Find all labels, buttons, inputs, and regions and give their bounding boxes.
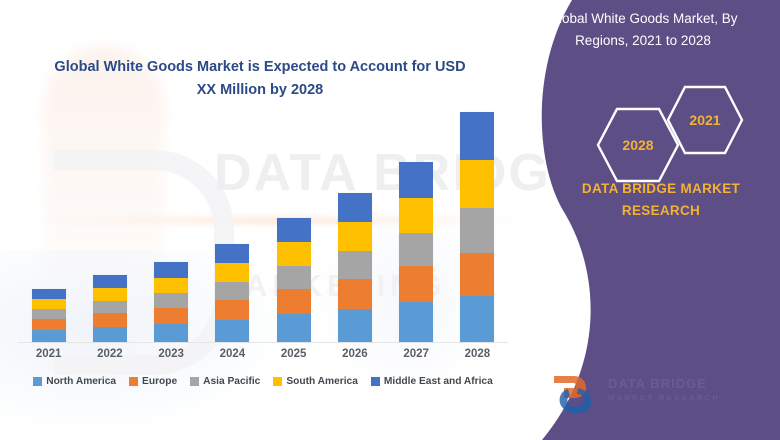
bar-slot <box>79 112 140 342</box>
stacked-bar-2021[interactable] <box>32 289 66 342</box>
bar-segment <box>32 330 66 342</box>
bar-segment <box>338 251 372 279</box>
brand-line-1: DATA BRIDGE MARKET <box>556 178 766 200</box>
bar-segment <box>215 282 249 300</box>
brand-line-2: RESEARCH <box>556 200 766 222</box>
stacked-bar-2025[interactable] <box>277 218 311 342</box>
bar-segment <box>215 263 249 282</box>
stacked-bar-2028[interactable] <box>460 112 494 342</box>
bar-segment <box>399 266 433 302</box>
x-axis-label-2021: 2021 <box>18 348 79 360</box>
bar-segment <box>338 309 372 342</box>
footer-logo: DATA BRIDGE MARKET RESEARCH <box>548 372 738 420</box>
bar-segment <box>460 296 494 342</box>
bar-slot <box>141 112 202 342</box>
hexagon-2021-label: 2021 <box>689 112 720 128</box>
bar-segment <box>460 208 494 253</box>
bar-segment <box>154 308 188 324</box>
bar-segment <box>277 266 311 289</box>
legend-label: Asia Pacific <box>203 376 260 387</box>
bar-slot <box>386 112 447 342</box>
bar-segment <box>460 112 494 160</box>
bar-segment <box>154 278 188 293</box>
bar-segment <box>399 162 433 198</box>
bar-segment <box>93 275 127 288</box>
bar-segment <box>32 299 66 309</box>
x-axis-label-2025: 2025 <box>263 348 324 360</box>
bar-segment <box>399 198 433 233</box>
legend-label: Europe <box>142 376 177 387</box>
logo-name: DATA BRIDGE <box>608 376 707 391</box>
infographic-canvas: DATA BRIDGE MARKETING Global White Goods… <box>0 0 780 440</box>
stacked-bar-2024[interactable] <box>215 244 249 342</box>
bar-segment <box>32 289 66 299</box>
bar-segment <box>277 218 311 242</box>
bar-slot <box>263 112 324 342</box>
bar-slot <box>447 112 508 342</box>
bar-segment <box>338 279 372 309</box>
bar-segment <box>277 289 311 314</box>
hexagon-badge-2028: 2028 <box>595 106 681 184</box>
x-axis-label-2027: 2027 <box>386 348 447 360</box>
bar-segment <box>338 193 372 222</box>
bar-slot <box>202 112 263 342</box>
x-axis-labels: 20212022202320242025202620272028 <box>18 348 508 360</box>
x-axis-label-2026: 2026 <box>324 348 385 360</box>
legend-label: Middle East and Africa <box>384 376 493 387</box>
bar-segment <box>460 160 494 208</box>
bar-segment <box>154 262 188 278</box>
chart-legend: North AmericaEuropeAsia PacificSouth Ame… <box>18 376 508 387</box>
stacked-bar-2022[interactable] <box>93 275 127 342</box>
bar-segment <box>154 324 188 342</box>
chart-baseline <box>18 342 508 343</box>
bar-segment <box>399 233 433 266</box>
bar-segment <box>399 302 433 342</box>
legend-item[interactable]: Asia Pacific <box>190 376 260 387</box>
bar-slot <box>324 112 385 342</box>
legend-swatch-icon <box>273 377 282 386</box>
bar-segment <box>32 309 66 319</box>
stacked-bar-group <box>18 112 508 342</box>
bar-segment <box>338 222 372 251</box>
bar-segment <box>277 242 311 266</box>
chart-area: 20212022202320242025202620272028 North A… <box>0 0 520 440</box>
x-axis-label-2024: 2024 <box>202 348 263 360</box>
hexagon-2028-label: 2028 <box>622 137 653 153</box>
legend-item[interactable]: South America <box>273 376 358 387</box>
bar-segment <box>32 319 66 330</box>
bar-segment <box>215 320 249 342</box>
legend-swatch-icon <box>371 377 380 386</box>
legend-item[interactable]: Europe <box>129 376 177 387</box>
panel-title: Global White Goods Market, By Regions, 2… <box>528 8 758 52</box>
bar-segment <box>277 314 311 342</box>
bar-segment <box>460 253 494 296</box>
stacked-bar-2026[interactable] <box>338 193 372 342</box>
dbmr-b-logo-icon <box>548 372 602 416</box>
bar-segment <box>215 300 249 320</box>
stacked-bar-2023[interactable] <box>154 262 188 342</box>
x-axis-label-2022: 2022 <box>79 348 140 360</box>
bar-slot <box>18 112 79 342</box>
logo-tagline: MARKET RESEARCH <box>608 393 720 402</box>
legend-swatch-icon <box>33 377 42 386</box>
legend-item[interactable]: Middle East and Africa <box>371 376 493 387</box>
bar-segment <box>93 327 127 342</box>
x-axis-label-2028: 2028 <box>447 348 508 360</box>
legend-swatch-icon <box>190 377 199 386</box>
bar-segment <box>93 301 127 313</box>
x-axis-label-2023: 2023 <box>141 348 202 360</box>
bar-segment <box>154 293 188 308</box>
bar-segment <box>215 244 249 263</box>
bar-segment <box>93 313 127 327</box>
legend-item[interactable]: North America <box>33 376 116 387</box>
legend-label: North America <box>46 376 116 387</box>
brand-name: DATA BRIDGE MARKET RESEARCH <box>556 178 766 222</box>
stacked-bar-2027[interactable] <box>399 162 433 342</box>
legend-label: South America <box>286 376 358 387</box>
legend-swatch-icon <box>129 377 138 386</box>
bar-segment <box>93 288 127 301</box>
